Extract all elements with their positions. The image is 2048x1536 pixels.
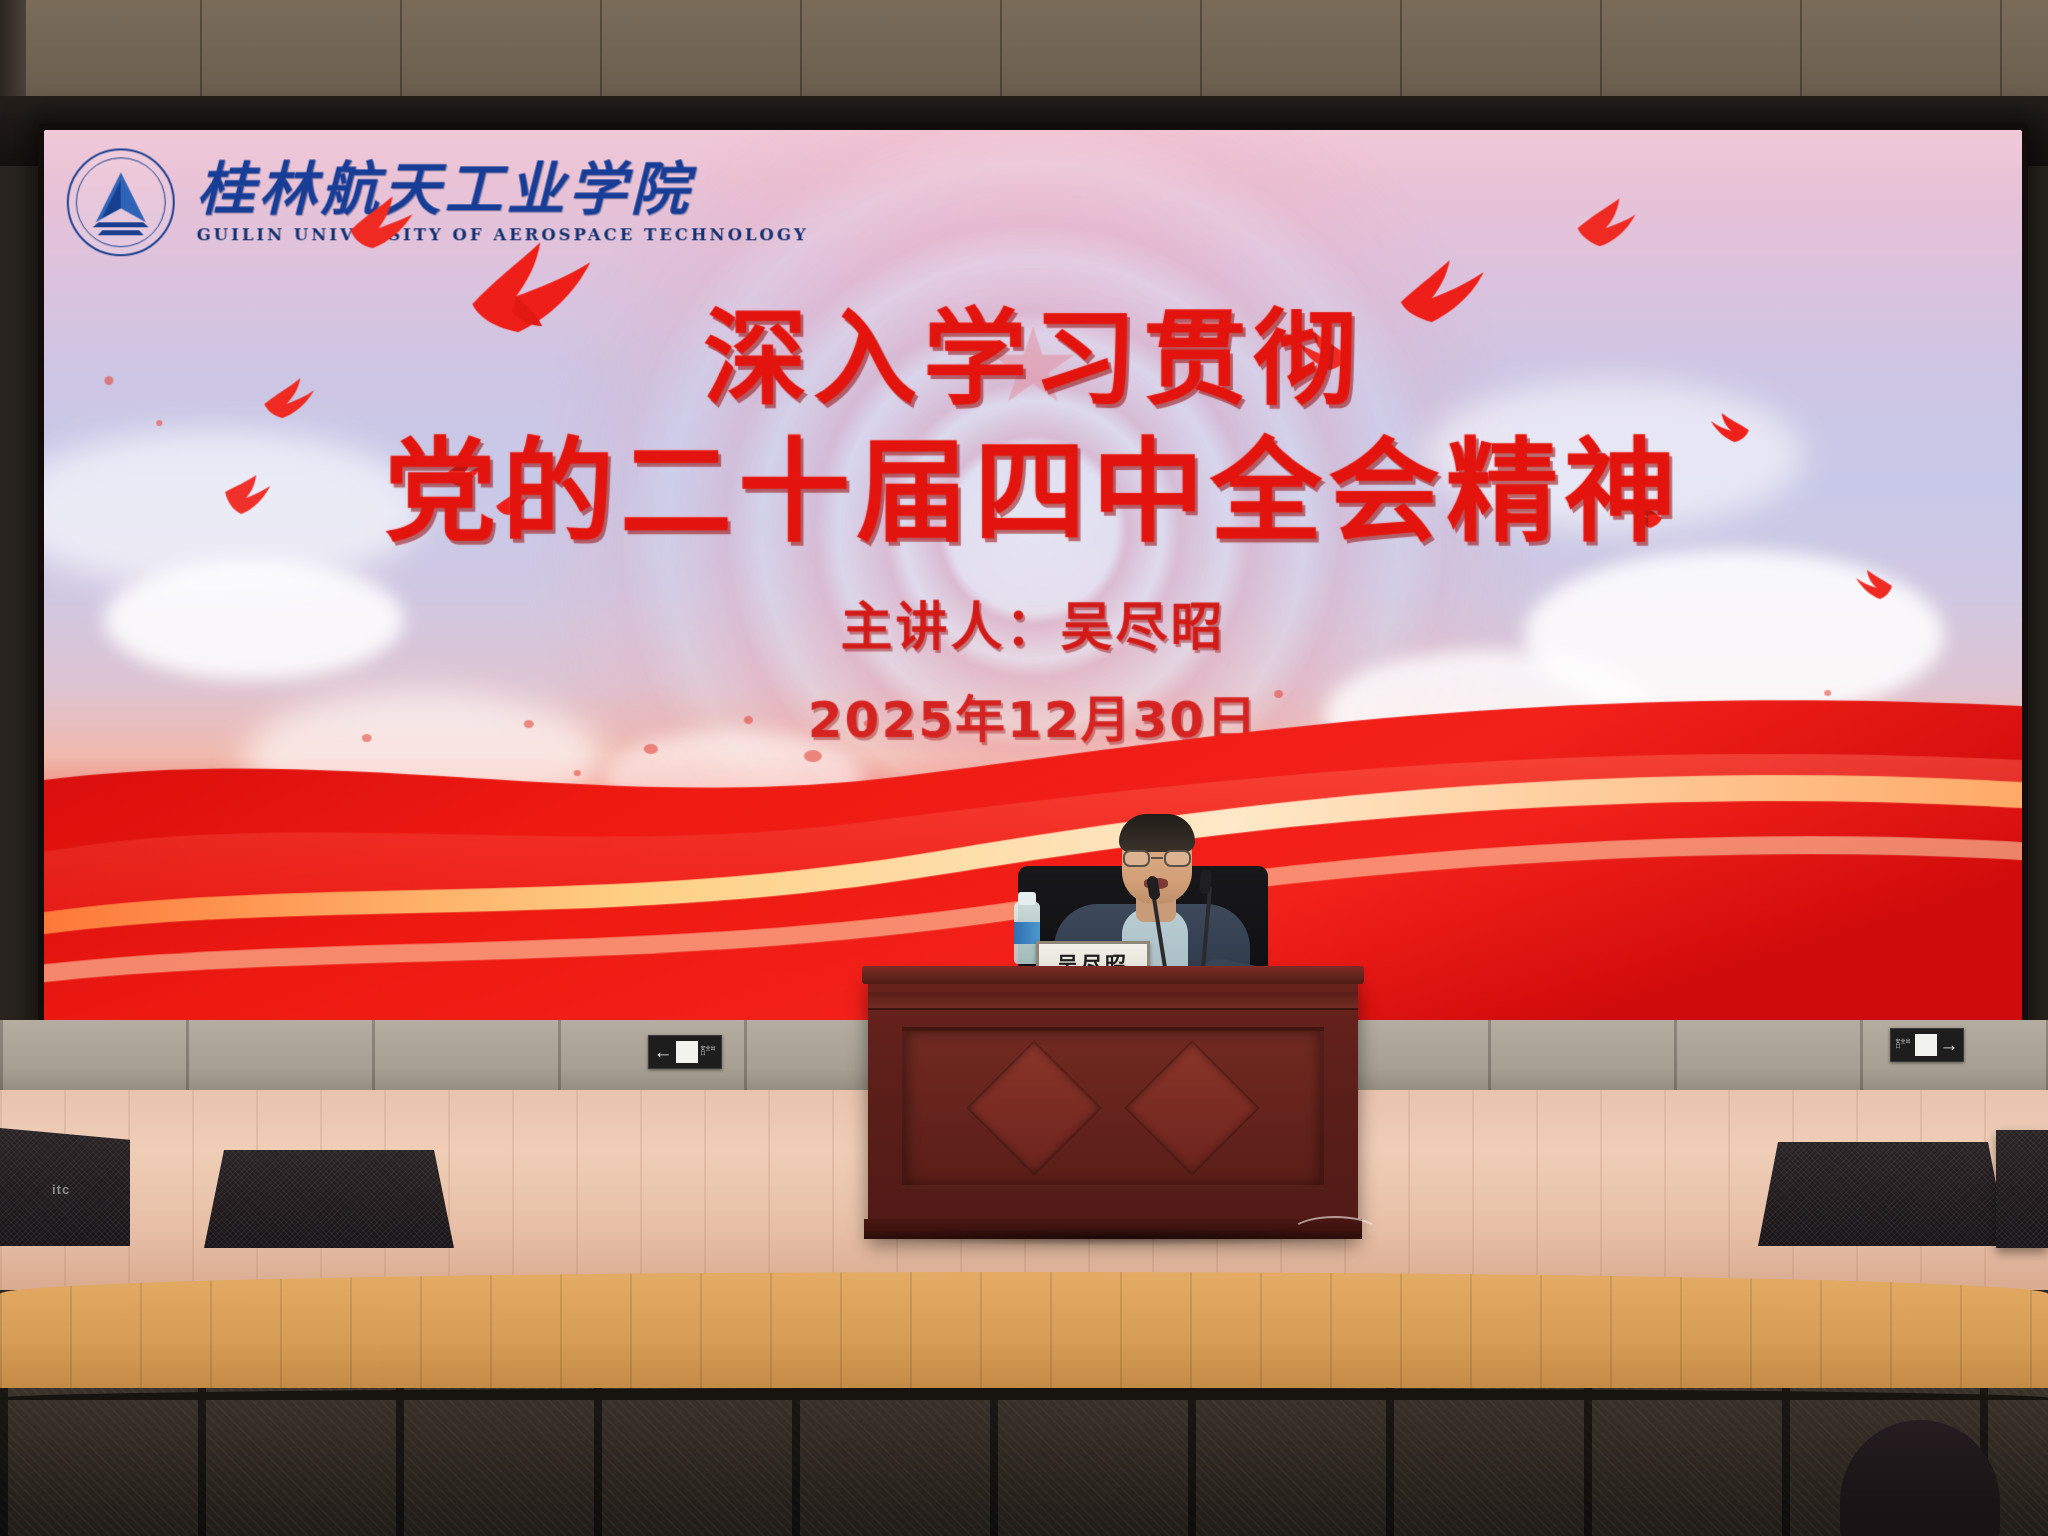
- diamond-motif: [969, 1043, 1099, 1173]
- monitor-cabinet: itc: [0, 1128, 130, 1246]
- exit-sign-right: 安全出口 →: [1890, 1028, 1964, 1062]
- exit-sign-right-label: 安全出口: [1896, 1040, 1912, 1051]
- lecture-hall-scene: 桂林航天工业学院 GUILIN UNIVERSITY OF AEROSPACE …: [0, 0, 2048, 1536]
- stage-front-lip: [0, 1272, 2048, 1396]
- speaker-line: 主讲人：吴尽昭: [44, 585, 2022, 660]
- monitor-cabinet: [204, 1150, 454, 1248]
- eyeglasses-icon: [1122, 850, 1192, 868]
- arrow-right-icon: →: [1940, 1036, 1959, 1055]
- speaker-grill: [204, 1150, 454, 1248]
- speaker-grill: [1758, 1142, 2008, 1246]
- itc-brand-label: itc: [52, 1182, 70, 1197]
- running-person-icon: [1915, 1034, 1937, 1056]
- arrow-left-icon: ←: [654, 1043, 673, 1062]
- seal-wave-lines: [93, 222, 149, 238]
- podium-front-panel: [902, 1027, 1324, 1189]
- title-line-2: 党的二十届四中全会精神: [44, 427, 2022, 559]
- logo-chinese-name: 桂林航天工业学院: [197, 160, 809, 218]
- university-seal-icon: [67, 148, 175, 256]
- floor-cable: [1290, 1216, 1380, 1250]
- monitor-cabinet: [1758, 1142, 2008, 1246]
- podium: [868, 975, 1358, 1237]
- aerospace-arrow-icon: [92, 170, 150, 226]
- running-person-icon: [676, 1041, 698, 1063]
- exit-sign-left: ← 安全出口: [648, 1035, 722, 1069]
- diamond-motif: [1127, 1043, 1257, 1173]
- stage-front-mesh-panels: [0, 1388, 2048, 1536]
- monitor-cabinet: [1996, 1130, 2048, 1248]
- flying-dove-icon: [1574, 194, 1640, 250]
- flying-dove-icon: [345, 190, 419, 252]
- speaker-grill: [1996, 1130, 2048, 1248]
- podium-top-surface: [862, 966, 1364, 984]
- title-line-1: 深入学习贯彻: [44, 298, 2021, 421]
- university-logo: 桂林航天工业学院 GUILIN UNIVERSITY OF AEROSPACE …: [67, 148, 809, 256]
- exit-sign-left-label: 安全出口: [701, 1047, 717, 1058]
- person-hair: [1119, 814, 1195, 852]
- podium-rail: [868, 992, 1358, 1010]
